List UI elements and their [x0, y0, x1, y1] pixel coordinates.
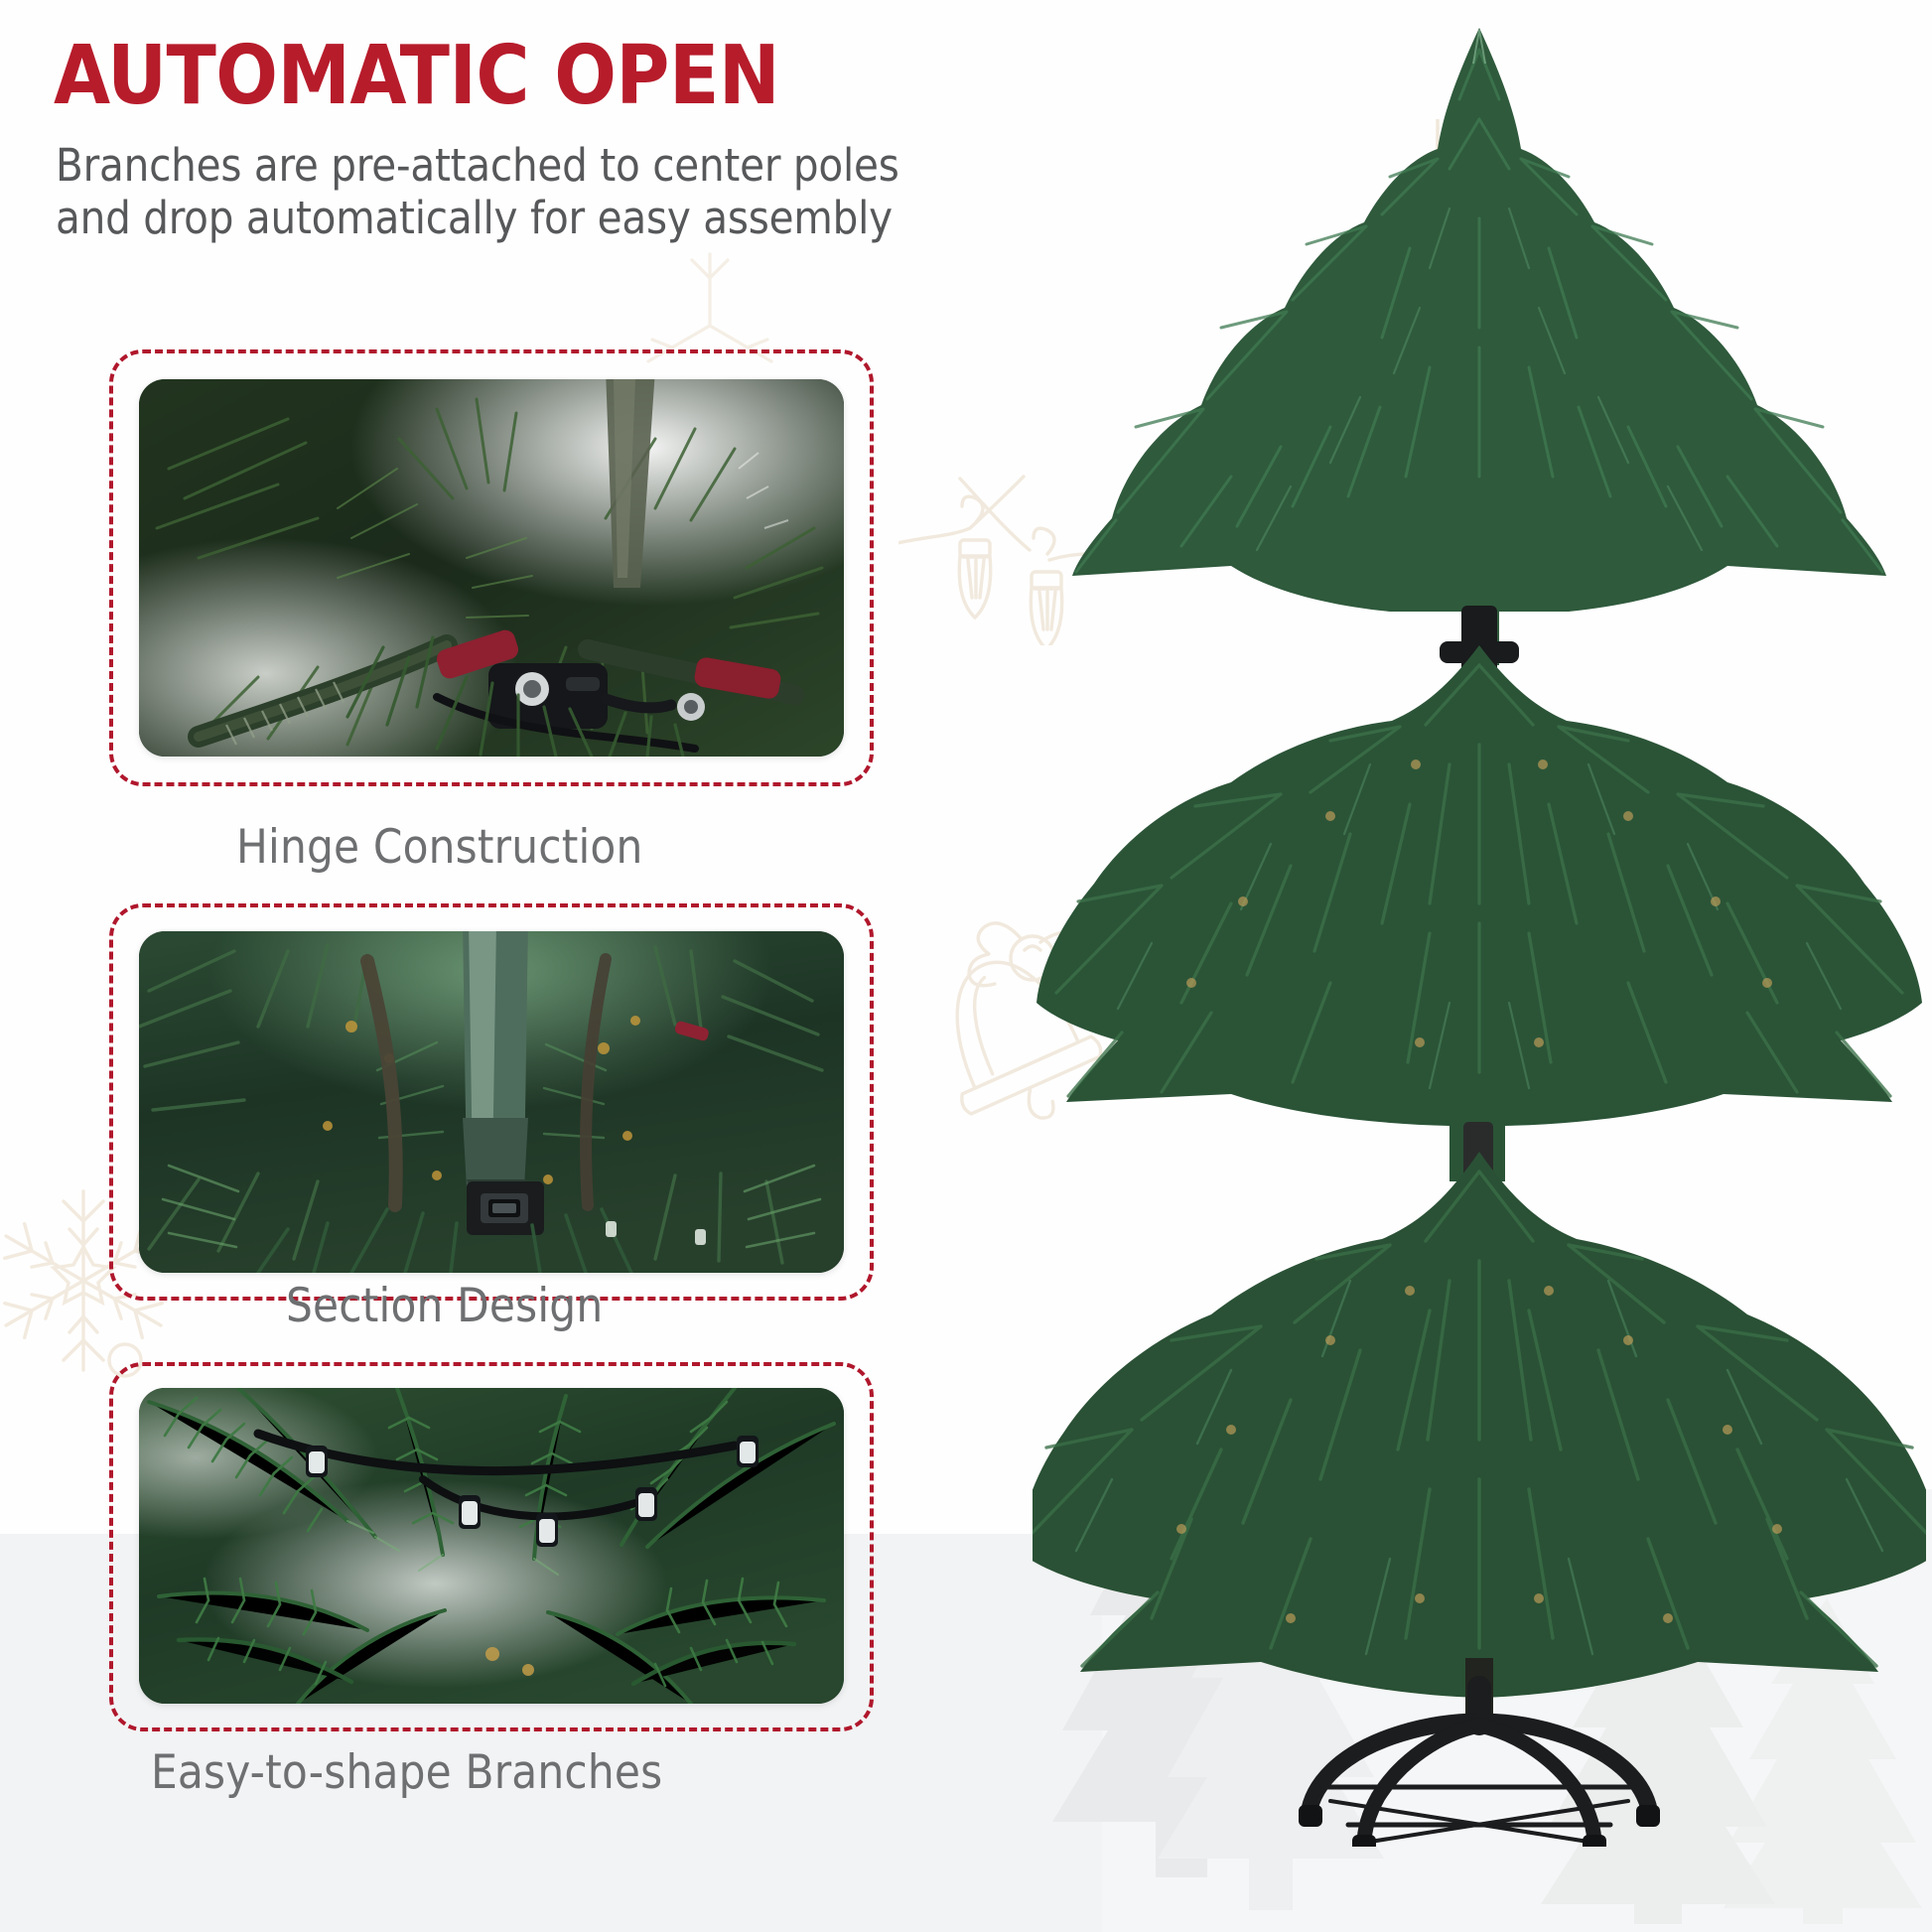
- feature-caption-1: Hinge Construction: [236, 822, 642, 874]
- tree-section-top: [1072, 28, 1886, 665]
- poster-canvas: AUTOMATIC OPEN Branches are pre-attached…: [0, 0, 1932, 1932]
- tree-section-bottom: [1033, 1152, 1926, 1698]
- feature-card-easy-to-shape-branches[interactable]: [109, 1362, 874, 1731]
- subtitle-line-2: and drop automatically for easy assembly: [56, 192, 1048, 244]
- feature-photo-section-design: [139, 931, 844, 1273]
- feature-caption-2: Section Design: [286, 1281, 603, 1332]
- feature-card-section-design[interactable]: [109, 903, 874, 1301]
- feature-photo-easy-to-shape-branches: [139, 1388, 844, 1704]
- feature-caption-3: Easy-to-shape Branches: [151, 1747, 662, 1799]
- feature-photo-hinge-construction: [139, 379, 844, 757]
- tree-section-middle: [1036, 645, 1922, 1181]
- tree-stand: [1309, 1688, 1650, 1845]
- subtitle-line-1: Branches are pre-attached to center pole…: [56, 139, 1048, 192]
- feature-card-hinge-construction[interactable]: [109, 349, 874, 786]
- page-subtitle: Branches are pre-attached to center pole…: [56, 139, 1048, 244]
- page-title: AUTOMATIC OPEN: [54, 34, 779, 119]
- product-tree-image: [1033, 10, 1926, 1847]
